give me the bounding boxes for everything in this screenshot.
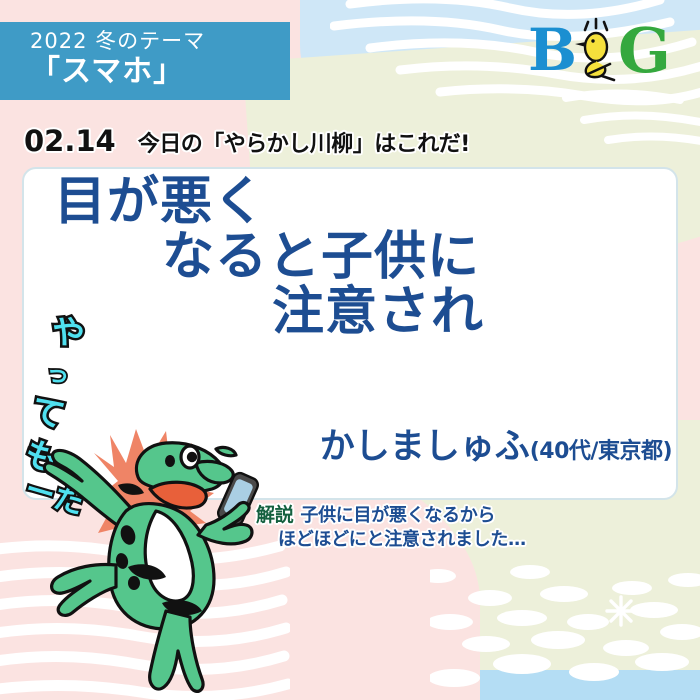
- explanation-block: 解説子供に目が悪くなるから ほどほどにと注意されました…: [256, 503, 676, 552]
- logo-letter-g: G: [618, 14, 671, 86]
- theme-banner-season: 2022 冬のテーマ: [30, 28, 290, 54]
- author-name: かしましゅふ: [320, 427, 530, 467]
- frog-nostril-ridge: [216, 447, 236, 455]
- theme-banner-topic: 「スマホ」: [30, 54, 290, 90]
- logo-letter-b: B: [528, 16, 577, 84]
- bird-ampersand-icon: [575, 19, 614, 80]
- date-row: 02.14 今日の「やらかし川柳」はこれだ!: [24, 124, 470, 158]
- author-meta: (40代/東京都): [530, 439, 672, 464]
- senryu-line-3: 注意され: [272, 285, 678, 340]
- poster-canvas: 2022 冬のテーマ 「スマホ」 B G 02: [0, 0, 700, 700]
- explanation-row-1: 解説子供に目が悪くなるから: [256, 503, 676, 528]
- date-value: 02.14: [24, 124, 116, 158]
- frog-leg-left: [52, 565, 116, 616]
- frog-arm-right: [198, 503, 252, 544]
- explanation-line-2: ほどほどにと注意されました…: [278, 528, 676, 552]
- explanation-line-1: 子供に目が悪くなるから: [300, 505, 495, 526]
- shout-char-0: や: [46, 302, 91, 357]
- date-headline: 今日の「やらかし川柳」はこれだ!: [138, 126, 470, 158]
- senryu-line-1: 目が悪く: [54, 175, 678, 230]
- frog-mascot-illustration: [10, 415, 290, 700]
- brand-logo[interactable]: B G: [526, 14, 682, 86]
- frog-pupil: [188, 453, 195, 460]
- senryu-line-2: なると子供に: [162, 230, 678, 285]
- theme-banner: 2022 冬のテーマ 「スマホ」: [0, 22, 290, 100]
